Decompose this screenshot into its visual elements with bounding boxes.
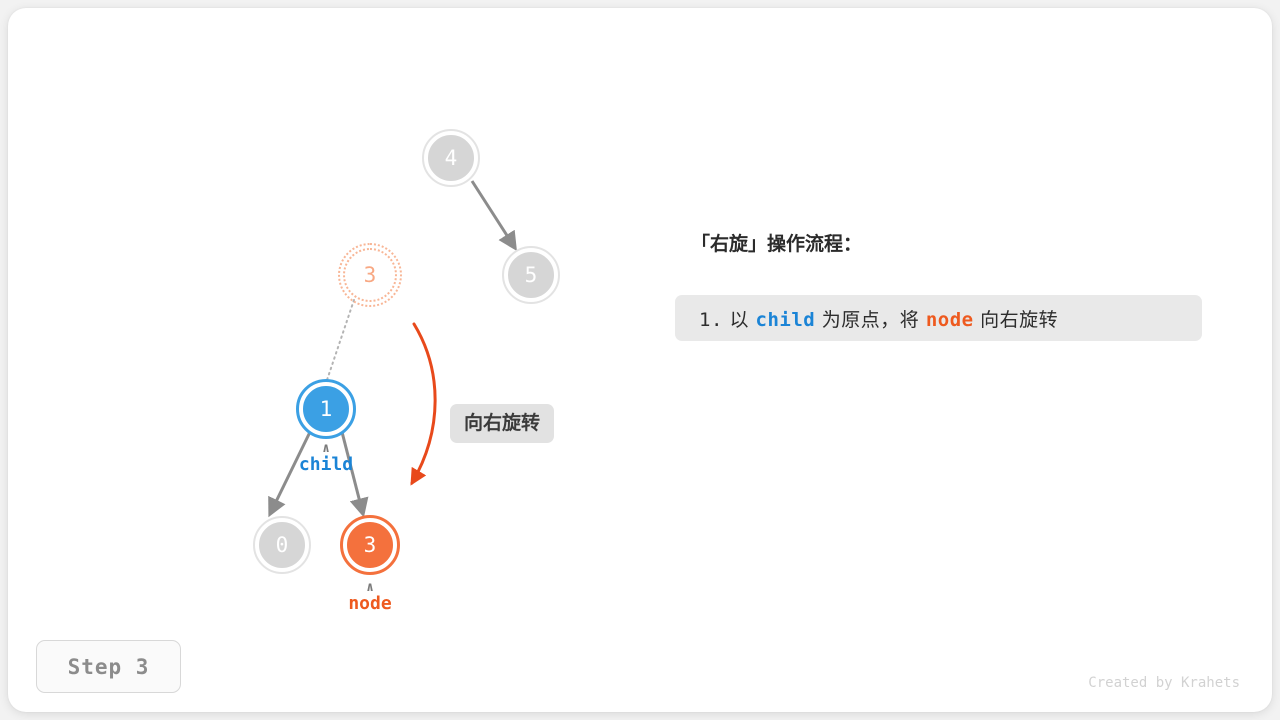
rotate-badge-label: 向右旋转 bbox=[464, 412, 540, 434]
tree-node-0[interactable]: 0 bbox=[255, 518, 309, 572]
pointer-text: child bbox=[299, 454, 353, 475]
panel-title-text: 「右旋」操作流程： bbox=[691, 233, 862, 255]
node-value: 0 bbox=[276, 535, 289, 556]
credit-text: Created by Krahets bbox=[1088, 675, 1240, 691]
node-value: 1 bbox=[320, 399, 333, 420]
tree-node-5[interactable]: 5 bbox=[504, 248, 558, 302]
tree-node-4[interactable]: 4 bbox=[424, 131, 478, 185]
diagram-canvas: 4 5 3 1 0 3 ∧ child ∧ node 向右旋转 「右旋」操作流程… bbox=[0, 0, 1280, 720]
pointer-label-child: ∧ child bbox=[266, 444, 386, 474]
step-part-3: 向右旋转 bbox=[980, 309, 1058, 331]
step-chip: Step 3 bbox=[36, 640, 181, 693]
edges-layer bbox=[0, 0, 1280, 720]
node-value: 3 bbox=[364, 265, 377, 286]
edge-4-5 bbox=[472, 181, 515, 248]
credit-label: Created by Krahets bbox=[1088, 675, 1240, 691]
rotation-arrow bbox=[412, 324, 435, 483]
node-value: 4 bbox=[445, 148, 458, 169]
tree-node-3[interactable]: 3 bbox=[343, 518, 397, 572]
pointer-text: node bbox=[348, 593, 391, 614]
step-instruction-box: 1. 以 child 为原点，将 node 向右旋转 bbox=[675, 295, 1202, 341]
step-part-1: 以 bbox=[729, 309, 749, 331]
node-value: 3 bbox=[364, 535, 377, 556]
panel-title: 「右旋」操作流程： bbox=[691, 229, 862, 256]
step-highlight-node: node bbox=[926, 309, 974, 331]
rotate-direction-badge: 向右旋转 bbox=[450, 404, 554, 443]
caret-icon: ∧ bbox=[310, 583, 430, 593]
tree-node-1[interactable]: 1 bbox=[299, 382, 353, 436]
step-highlight-child: child bbox=[756, 309, 816, 331]
step-instruction-text: 1. 以 child 为原点，将 node 向右旋转 bbox=[699, 305, 1058, 332]
pointer-label-node: ∧ node bbox=[310, 583, 430, 613]
edge-ghost3-1 bbox=[327, 300, 354, 380]
caret-icon: ∧ bbox=[266, 444, 386, 454]
tree-node-ghost-3[interactable]: 3 bbox=[343, 248, 397, 302]
step-number: 1. bbox=[699, 309, 723, 331]
node-value: 5 bbox=[525, 265, 538, 286]
step-part-2: 为原点，将 bbox=[822, 309, 920, 331]
step-chip-label: Step 3 bbox=[68, 655, 150, 679]
